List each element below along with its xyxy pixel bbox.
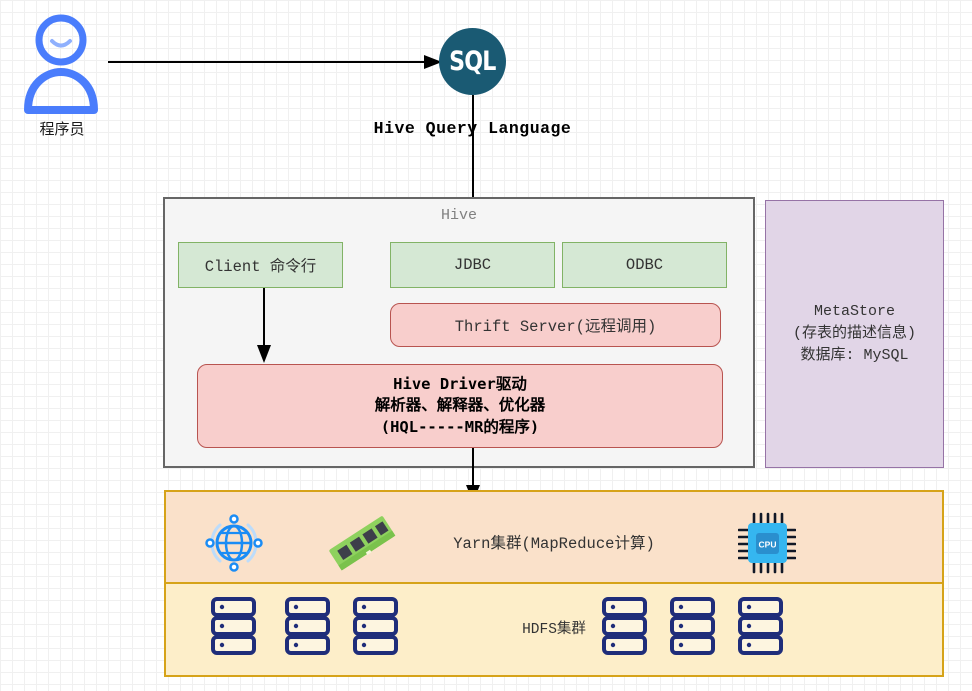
client-cli-label: Client 命令行 — [205, 254, 317, 276]
metastore-line-1: MetaStore — [814, 301, 895, 323]
odbc-box[interactable]: ODBC — [562, 242, 727, 288]
sql-label: SQL — [449, 46, 495, 77]
arrow-client-to-driver — [255, 288, 275, 364]
metastore-line-3: 数据库: MySQL — [800, 345, 908, 367]
arrow-user-to-sql — [108, 48, 443, 78]
sql-circle-icon[interactable]: SQL — [439, 28, 506, 95]
hive-driver-line-3: (HQL-----MR的程序) — [381, 417, 539, 438]
person-icon — [22, 14, 100, 114]
cpu-chip-icon: CPU — [738, 512, 796, 574]
metastore-line-2: (存表的描述信息) — [793, 323, 916, 345]
hive-driver-box[interactable]: Hive Driver驱动 解析器、解释器、优化器 (HQL-----MR的程序… — [197, 364, 723, 448]
client-cli-box[interactable]: Client 命令行 — [178, 242, 343, 288]
cpu-chip-text: CPU — [759, 540, 777, 550]
hive-container-label: Hive — [163, 207, 755, 224]
odbc-label: ODBC — [626, 256, 663, 274]
hive-driver-line-1: Hive Driver驱动 — [393, 374, 527, 395]
thrift-server-box[interactable]: Thrift Server(远程调用) — [390, 303, 721, 347]
thrift-server-label: Thrift Server(远程调用) — [455, 314, 657, 336]
person-label: 程序员 — [10, 118, 114, 139]
hdfs-cluster-label: HDFS集群 — [164, 617, 944, 638]
jdbc-label: JDBC — [454, 256, 491, 274]
metastore-box[interactable]: MetaStore (存表的描述信息) 数据库: MySQL — [765, 200, 944, 468]
jdbc-box[interactable]: JDBC — [390, 242, 555, 288]
yarn-cluster-label: Yarn集群(MapReduce计算) — [164, 531, 944, 553]
hive-driver-line-2: 解析器、解释器、优化器 — [375, 395, 546, 416]
